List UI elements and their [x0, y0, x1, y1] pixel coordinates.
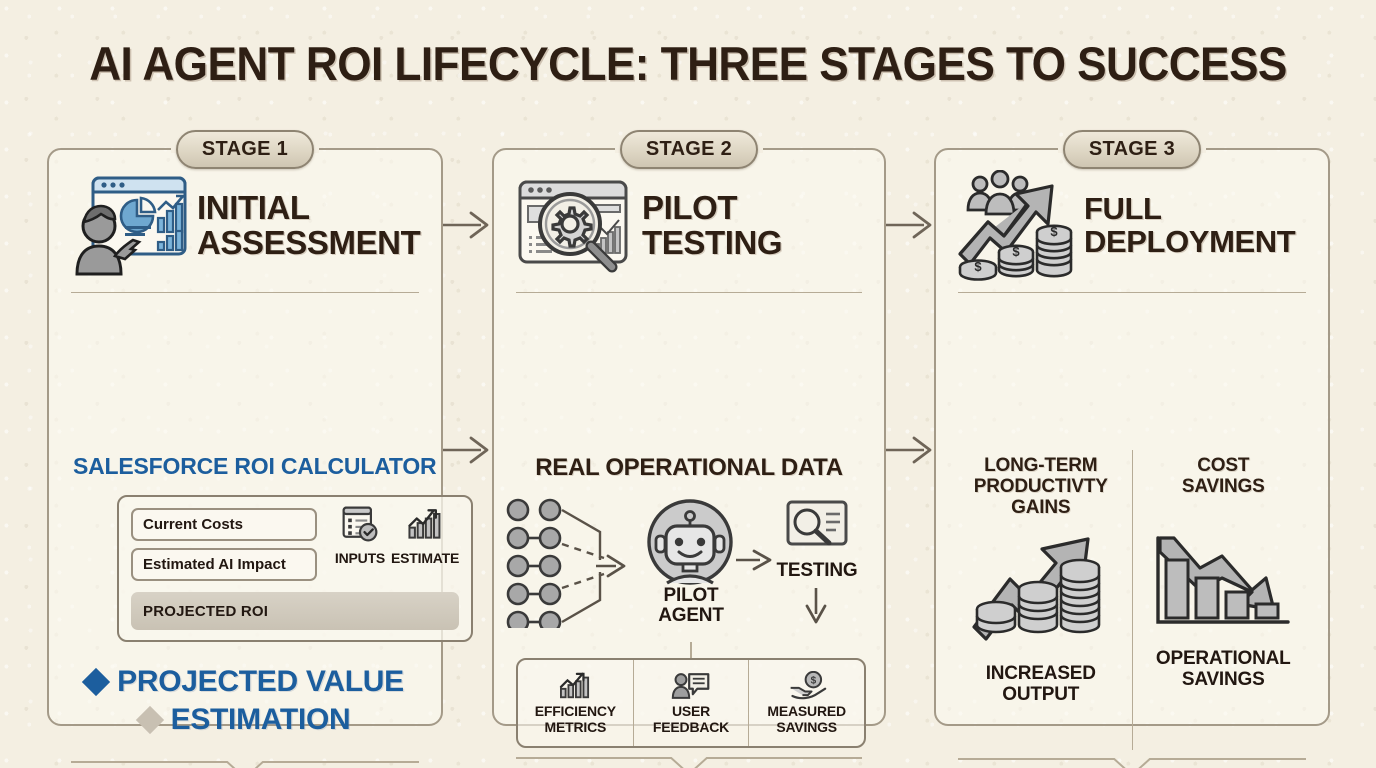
people-growth-coins-icon: $ $ $	[950, 170, 1078, 282]
real-operational-data-label: REAL OPERATIONAL DATA	[494, 454, 884, 482]
divider	[71, 292, 419, 293]
projected-value-text: PROJECTED VALUE	[117, 665, 404, 699]
metric-measured-savings: $ MEASURED SAVINGS	[748, 660, 864, 746]
chevron-divider	[516, 754, 862, 768]
svg-text:$: $	[810, 676, 816, 687]
stage-3-heading: FULL DEPLOYMENT	[1084, 193, 1295, 259]
checklist-check-icon	[340, 505, 380, 543]
connector-arrow-1-2-top	[443, 205, 492, 245]
roi-calculator-box: Current Costs Estimated AI Impact PROJEC…	[117, 495, 473, 642]
stage-3-heading-line1: FULL	[1084, 193, 1295, 226]
pilot-agent-label: PILOT AGENT	[636, 586, 746, 626]
divider	[958, 292, 1306, 293]
chevron-divider	[958, 755, 1306, 768]
estimated-ai-impact-field[interactable]: Estimated AI Impact	[131, 548, 317, 581]
magnifier-gear-dashboard-icon	[508, 170, 636, 282]
projected-value-callout: PROJECTED VALUE ESTIMATION	[49, 665, 441, 737]
estimate-icon-group: ESTIMATE	[391, 505, 457, 566]
stage-1-panel: STAGE 1	[47, 148, 443, 726]
inputs-icon-group: INPUTS	[327, 505, 393, 566]
stage-1-heading: INITIAL ASSESSMENT	[197, 191, 420, 261]
svg-text:$: $	[974, 259, 982, 274]
divider	[516, 292, 862, 293]
stage-2-header: PILOT TESTING	[508, 168, 872, 284]
stage-3-heading-line2: DEPLOYMENT	[1084, 226, 1295, 259]
coins-growth-arrow-icon	[966, 531, 1116, 654]
stage-2-heading-line1: PILOT	[642, 191, 782, 226]
metric-efficiency-metrics: EFFICIENCY METRICS	[518, 660, 633, 746]
pilot-flow-diagram: PILOT AGENT TESTING	[504, 498, 878, 653]
stage-2-panel: STAGE 2	[492, 148, 886, 726]
column-cost-savings: COST SAVINGS OPERATIONAL	[1132, 450, 1315, 750]
stage-2-badge: STAGE 2	[620, 130, 758, 169]
diamond-blue-icon	[82, 668, 110, 696]
callout-line-2: ESTIMATION	[49, 703, 441, 737]
connector-arrow-1-2-bottom	[443, 430, 492, 470]
stage-1-badge: STAGE 1	[176, 130, 314, 169]
hand-coin-icon: $	[787, 671, 827, 701]
stage-3-badge: STAGE 3	[1063, 130, 1201, 169]
connector-arrow-2-3-top	[886, 205, 935, 245]
metric-user-feedback: USER FEEDBACK	[633, 660, 749, 746]
bar-chart-up-icon	[404, 505, 444, 543]
column-productivity-gains: LONG-TERM PRODUCTIVTY GAINS	[950, 450, 1132, 750]
stage-1-heading-line2: ASSESSMENT	[197, 226, 420, 261]
diamond-grey-icon	[135, 706, 163, 734]
stage-2-heading-line2: TESTING	[642, 226, 782, 261]
stage-2-heading: PILOT TESTING	[642, 191, 782, 261]
stage-1-heading-line1: INITIAL	[197, 191, 420, 226]
dashboard-presenter-icon	[63, 170, 191, 282]
inputs-label: INPUTS	[327, 550, 393, 566]
user-feedback-icon	[671, 671, 711, 701]
testing-label: TESTING	[762, 561, 872, 581]
estimation-text: ESTIMATION	[171, 703, 351, 737]
stage-3-panel: STAGE 3 $	[934, 148, 1330, 726]
svg-text:$: $	[1050, 224, 1058, 239]
projected-roi-result: PROJECTED ROI	[131, 592, 459, 630]
chevron-divider	[71, 758, 419, 768]
stage-3-header: $ $ $ FULL DEPLOYMENT	[950, 168, 1316, 284]
page-title: AI AGENT ROI LIFECYCLE: THREE STAGES TO …	[41, 36, 1334, 91]
svg-text:$: $	[1012, 244, 1020, 259]
current-costs-field[interactable]: Current Costs	[131, 508, 317, 541]
bar-chart-up-icon	[556, 671, 594, 701]
stage-3-columns: LONG-TERM PRODUCTIVTY GAINS	[950, 450, 1314, 750]
salesforce-roi-calculator-label: SALESFORCE ROI CALCULATOR	[73, 453, 436, 480]
pilot-metrics-box: EFFICIENCY METRICS USER FEEDBACK $	[516, 658, 866, 748]
declining-bar-chart-icon	[1148, 534, 1298, 639]
stage-1-header: INITIAL ASSESSMENT	[63, 168, 429, 284]
estimate-label: ESTIMATE	[391, 550, 457, 566]
metrics-stem	[690, 642, 692, 658]
callout-line-1: PROJECTED VALUE	[49, 665, 441, 699]
connector-arrow-2-3-bottom	[886, 430, 935, 470]
